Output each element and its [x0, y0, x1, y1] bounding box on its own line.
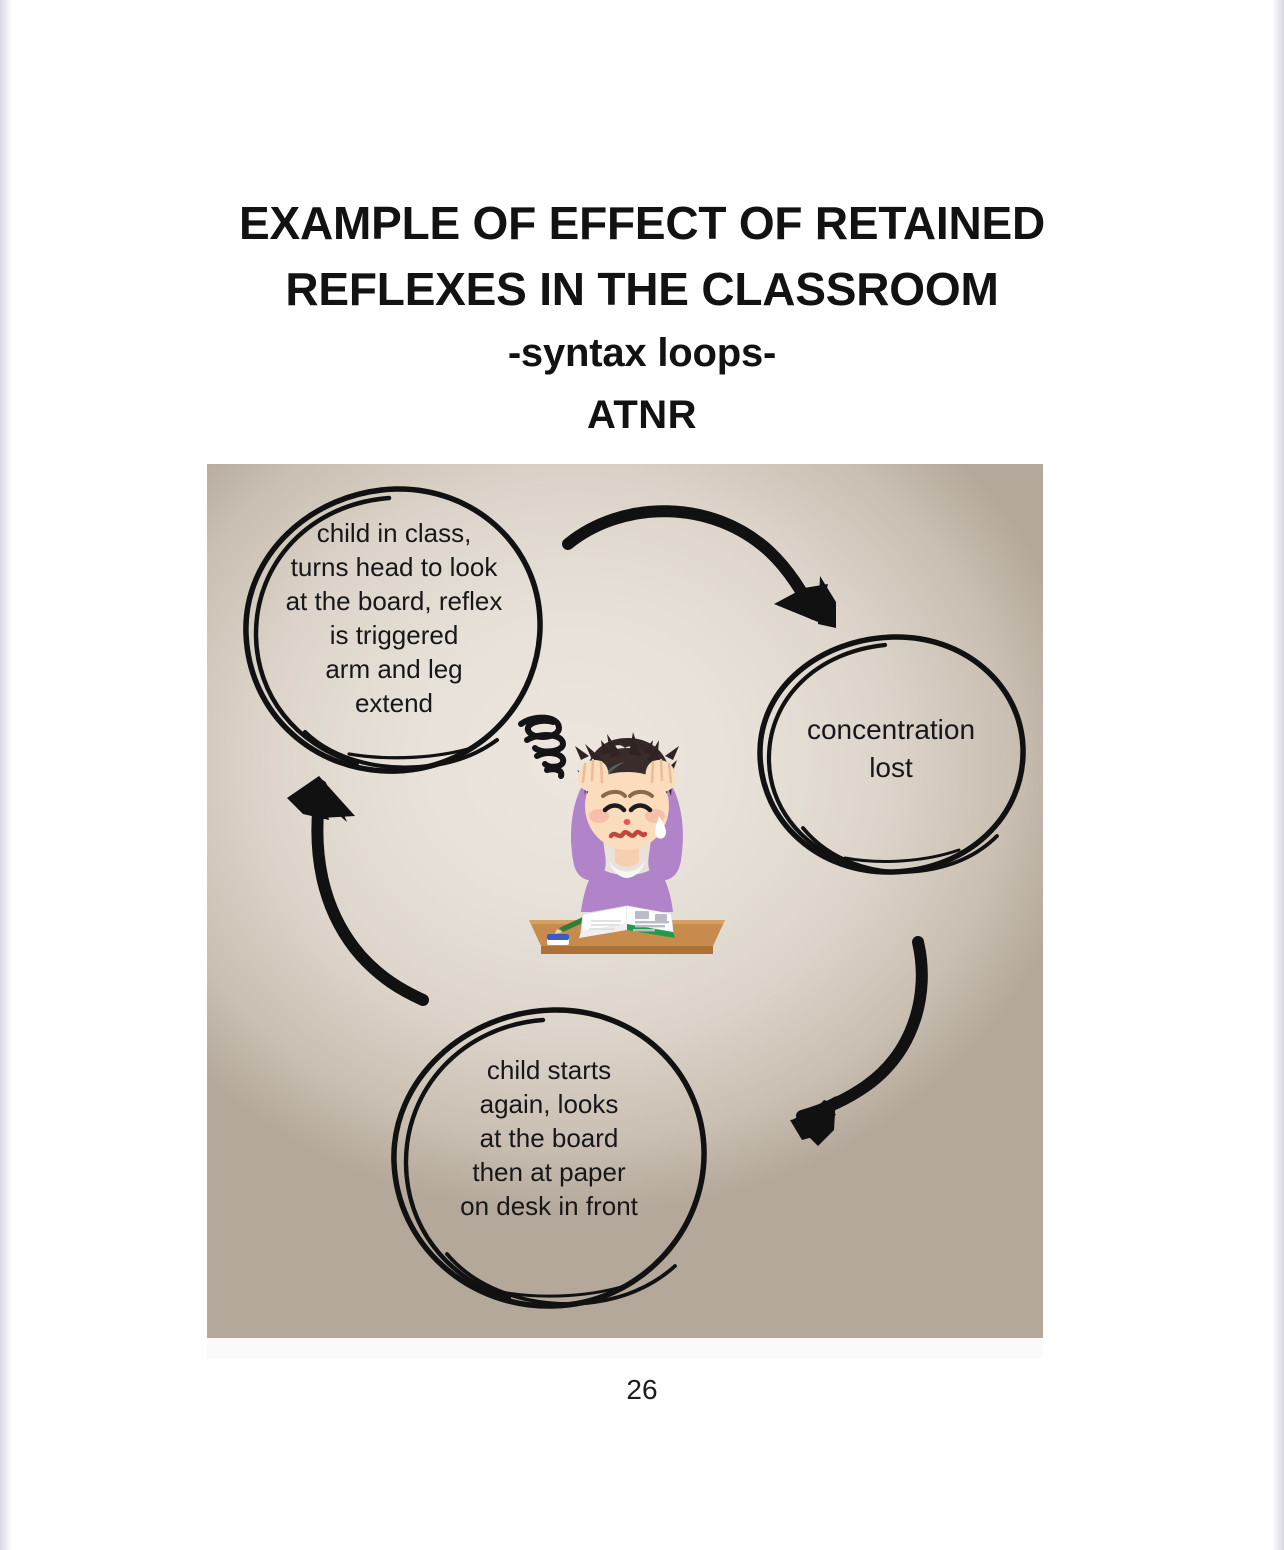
diagram-arrow-concentration-to-restart — [732, 934, 952, 1154]
diagram-arrow-restart-to-trigger — [259, 764, 459, 1014]
page-title: EXAMPLE OF EFFECT OF RETAINED REFLEXES I… — [12, 190, 1272, 446]
viewer-right-edge — [1272, 0, 1284, 1550]
diagram-arrow-trigger-to-concentration — [562, 484, 862, 684]
title-acronym: ATNR — [12, 384, 1272, 446]
document-page: EXAMPLE OF EFFECT OF RETAINED REFLEXES I… — [12, 0, 1272, 1550]
figure-container: child in class, turns head to look at th… — [207, 464, 1043, 1358]
diagram-node-restart: child starts again, looks at the board t… — [387, 1004, 711, 1316]
diagram-node-trigger-label: child in class, turns head to look at th… — [239, 482, 549, 782]
frustrated-child-at-desk-icon — [507, 698, 747, 966]
title-line-1: EXAMPLE OF EFFECT OF RETAINED — [12, 190, 1272, 256]
page-number: 26 — [12, 1374, 1272, 1406]
curved-arrow-icon — [562, 484, 862, 684]
curved-arrow-icon — [259, 764, 459, 1014]
viewer-left-edge — [0, 0, 12, 1550]
cycle-diagram: child in class, turns head to look at th… — [207, 464, 1043, 1338]
diagram-node-trigger: child in class, turns head to look at th… — [239, 482, 549, 782]
title-subtitle: -syntax loops- — [12, 322, 1272, 384]
diagram-node-restart-label: child starts again, looks at the board t… — [387, 1004, 711, 1316]
curved-arrow-icon — [732, 934, 952, 1154]
frustrated-child-illustration — [507, 698, 747, 966]
title-line-2: REFLEXES IN THE CLASSROOM — [12, 256, 1272, 322]
